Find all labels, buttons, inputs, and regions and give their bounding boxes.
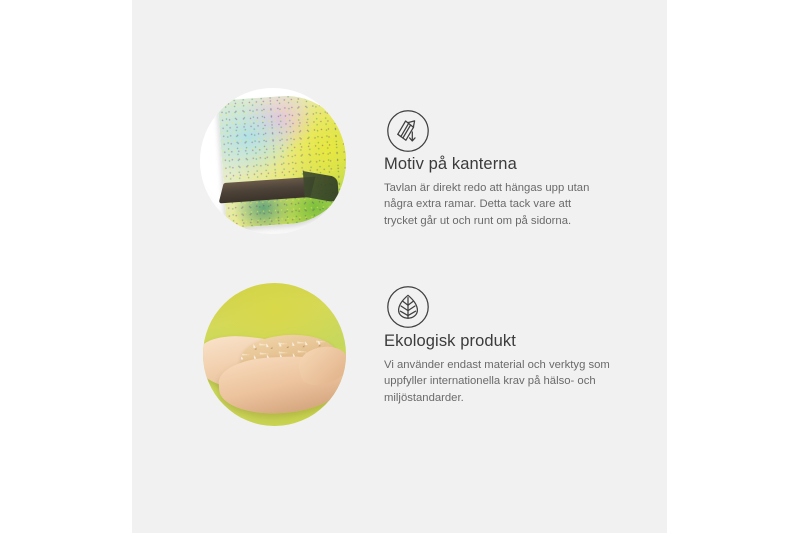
print-texture <box>218 92 346 229</box>
feature-body-1-line-1: Tavlan är direkt redo att hängas upp uta… <box>384 180 632 197</box>
feature-text-wrapped-edges: Motiv på kanterna Tavlan är direkt redo … <box>384 155 632 230</box>
feature-body-2-line-3: miljöstandarder. <box>384 390 644 407</box>
feature-body-2-line-1: Vi använder endast material och verktyg … <box>384 357 644 374</box>
feature-text-eco-product: Ekologisk produkt Vi använder endast mat… <box>384 332 644 407</box>
content-panel <box>132 0 667 533</box>
feature-heading-1: Motiv på kanterna <box>384 155 632 175</box>
feature-body-1-line-3: trycket går ut och runt om på sidorna. <box>384 213 632 230</box>
canvas-wrapped-edges-icon <box>386 109 430 153</box>
feature-body-1: Tavlan är direkt redo att hängas upp uta… <box>384 180 632 230</box>
canvas-print-surface <box>218 92 346 229</box>
canvas-corner-photo <box>200 88 346 234</box>
product-info-graphic: Motiv på kanterna Tavlan är direkt redo … <box>0 0 800 533</box>
feature-body-1-line-2: några extra ramar. Detta tack vare att <box>384 196 632 213</box>
feature-heading-2: Ekologisk produkt <box>384 332 644 352</box>
feature-body-2-line-2: uppfyller internationella krav på hälso-… <box>384 373 644 390</box>
feature-body-2: Vi använder endast material och verktyg … <box>384 357 644 407</box>
hands-holding-wood-chips-photo <box>203 283 346 426</box>
leaf-icon <box>386 285 430 329</box>
